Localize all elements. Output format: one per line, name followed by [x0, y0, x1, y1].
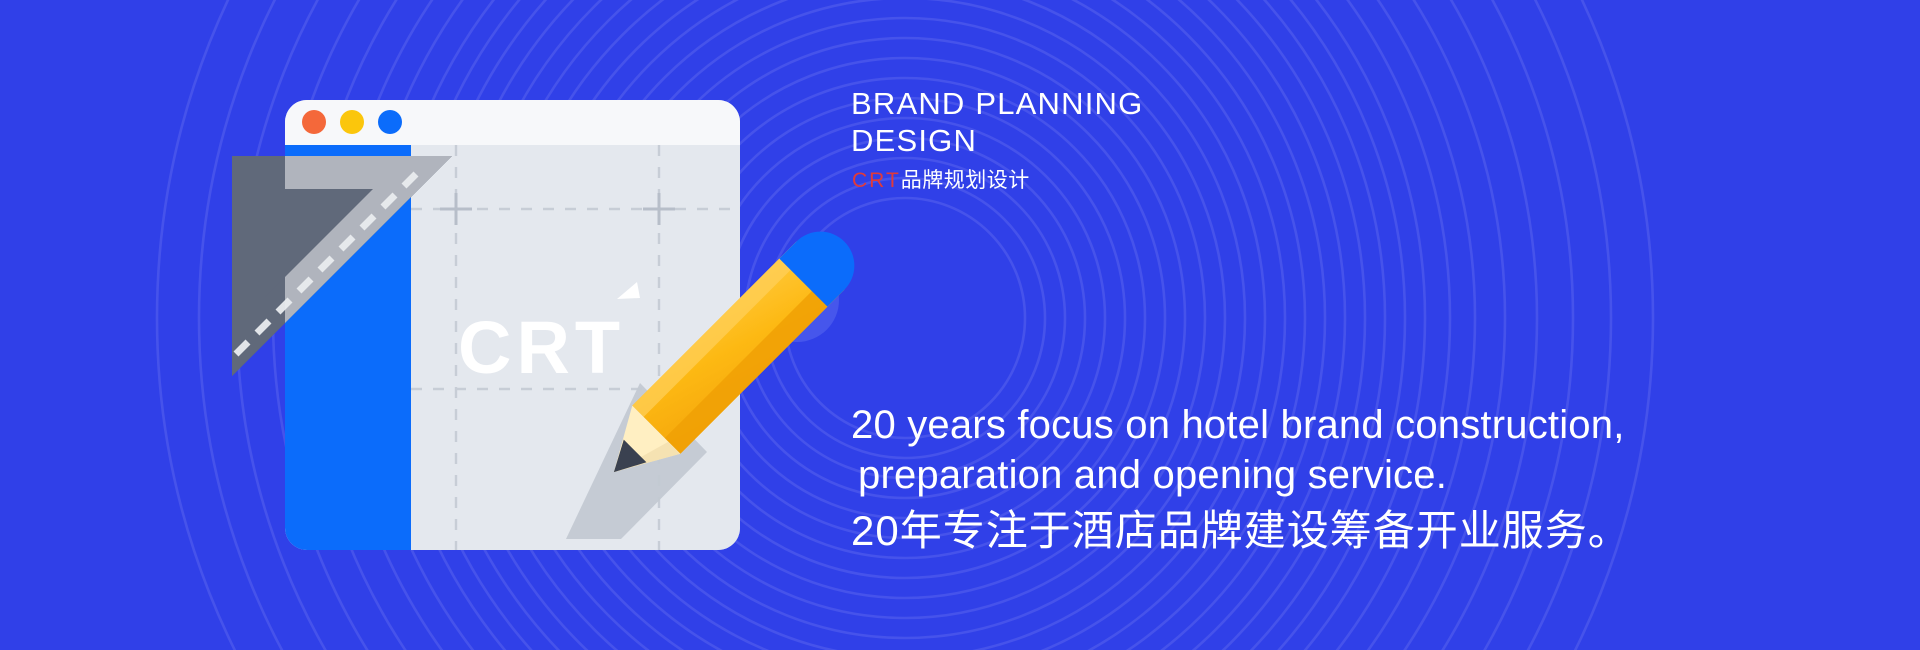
sub-heading: CRT品牌规划设计 [852, 168, 1030, 194]
tagline-en-line1: 20 years focus on hotel brand constructi… [851, 403, 1625, 447]
sub-heading-brand: CRT [852, 169, 901, 192]
maximize-dot [378, 110, 402, 134]
tagline-en: 20 years focus on hotel brand constructi… [851, 400, 1801, 500]
minimize-dot [340, 110, 364, 134]
copy-block: BRAND PLANNING DESIGN CRT品牌规划设计 20 years… [851, 0, 1851, 650]
kicker-heading: BRAND PLANNING DESIGN [851, 85, 1371, 159]
tagline-en-line2: preparation and opening service. [851, 450, 1801, 500]
paper-logo-crt: CRT [458, 306, 625, 389]
sub-heading-cn: 品牌规划设计 [901, 169, 1030, 192]
close-dot [302, 110, 326, 134]
hero-illustration: CRT [0, 0, 900, 650]
banner-root: CRT [0, 0, 1920, 650]
tagline-cn: 20年专注于酒店品牌建设筹备开业服务。 [851, 505, 1801, 557]
